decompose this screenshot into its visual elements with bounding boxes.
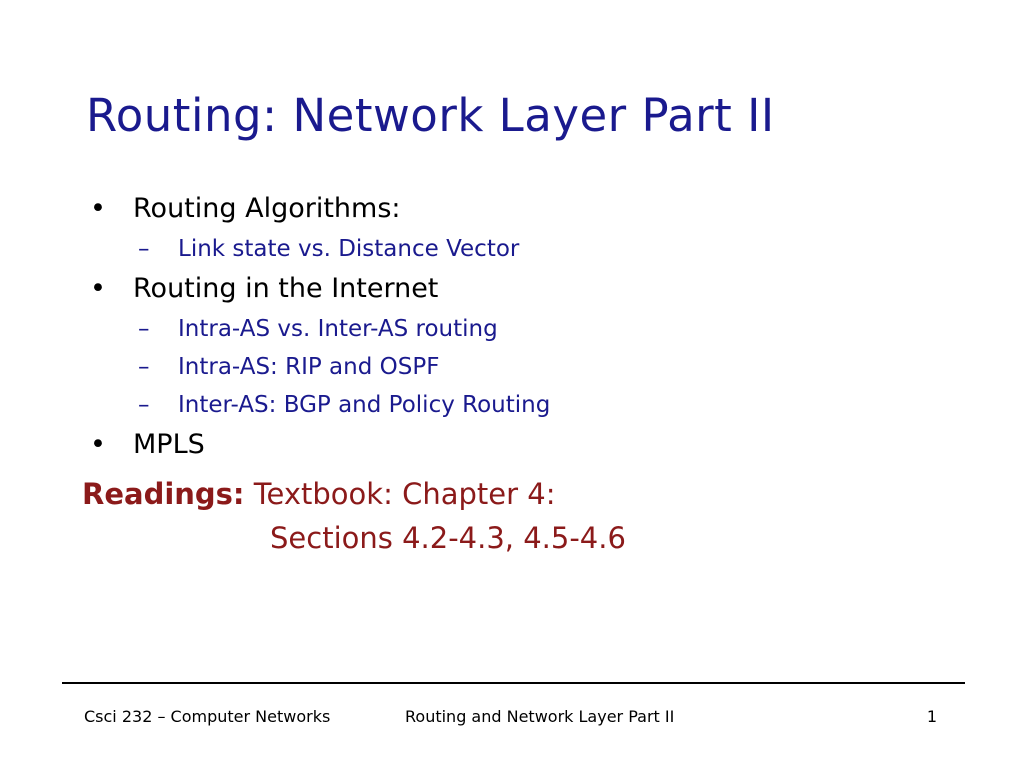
bullet-marker-dash: – — [138, 310, 150, 348]
bullet-marker-dash: – — [138, 386, 150, 424]
readings-first-line: Readings: Textbook: Chapter 4: — [82, 472, 942, 516]
bullet-item-link-state-vs-distance-vector: – Link state vs. Distance Vector — [82, 230, 942, 268]
bullet-list: • Routing Algorithms: – Link state vs. D… — [82, 188, 942, 466]
readings-sections-text: Sections 4.2-4.3, 4.5-4.6 — [82, 516, 942, 560]
footer-course-label: Csci 232 – Computer Networks — [84, 702, 330, 732]
bullet-item-routing-algorithms: • Routing Algorithms: — [82, 188, 942, 230]
bullet-label: Intra-AS: RIP and OSPF — [178, 354, 439, 380]
bullet-item-inter-as-bgp-and-policy-routing: – Inter-AS: BGP and Policy Routing — [82, 386, 942, 424]
bullet-marker-dot: • — [90, 188, 106, 230]
bullet-label: Link state vs. Distance Vector — [178, 236, 519, 262]
bullet-marker-dash: – — [138, 348, 150, 386]
bullet-label: Inter-AS: BGP and Policy Routing — [178, 392, 550, 418]
bullet-label: Routing Algorithms: — [133, 193, 401, 224]
footer-page-number: 1 — [927, 702, 937, 732]
footer: Csci 232 – Computer Networks Routing and… — [62, 702, 965, 732]
bullet-label: MPLS — [133, 429, 205, 460]
page-title: Routing: Network Layer Part II — [86, 88, 966, 144]
readings-block: Readings: Textbook: Chapter 4: Sections … — [82, 472, 942, 560]
readings-textbook-text: Textbook: Chapter 4: — [254, 477, 556, 511]
bullet-label: Routing in the Internet — [133, 273, 438, 304]
readings-label: Readings: — [82, 477, 245, 511]
bullet-marker-dash: – — [138, 230, 150, 268]
bullet-label: Intra-AS vs. Inter-AS routing — [178, 316, 498, 342]
bullet-marker-dot: • — [90, 268, 106, 310]
bullet-item-intra-as-vs-inter-as-routing: – Intra-AS vs. Inter-AS routing — [82, 310, 942, 348]
slide-canvas: Routing: Network Layer Part II • Routing… — [0, 0, 1024, 768]
bullet-item-mpls: • MPLS — [82, 424, 942, 466]
bullet-item-routing-in-the-internet: • Routing in the Internet — [82, 268, 942, 310]
bullet-marker-dot: • — [90, 424, 106, 466]
footer-topic-label: Routing and Network Layer Part II — [405, 702, 674, 732]
bullet-item-intra-as-rip-and-ospf: – Intra-AS: RIP and OSPF — [82, 348, 942, 386]
footer-divider — [62, 682, 965, 684]
